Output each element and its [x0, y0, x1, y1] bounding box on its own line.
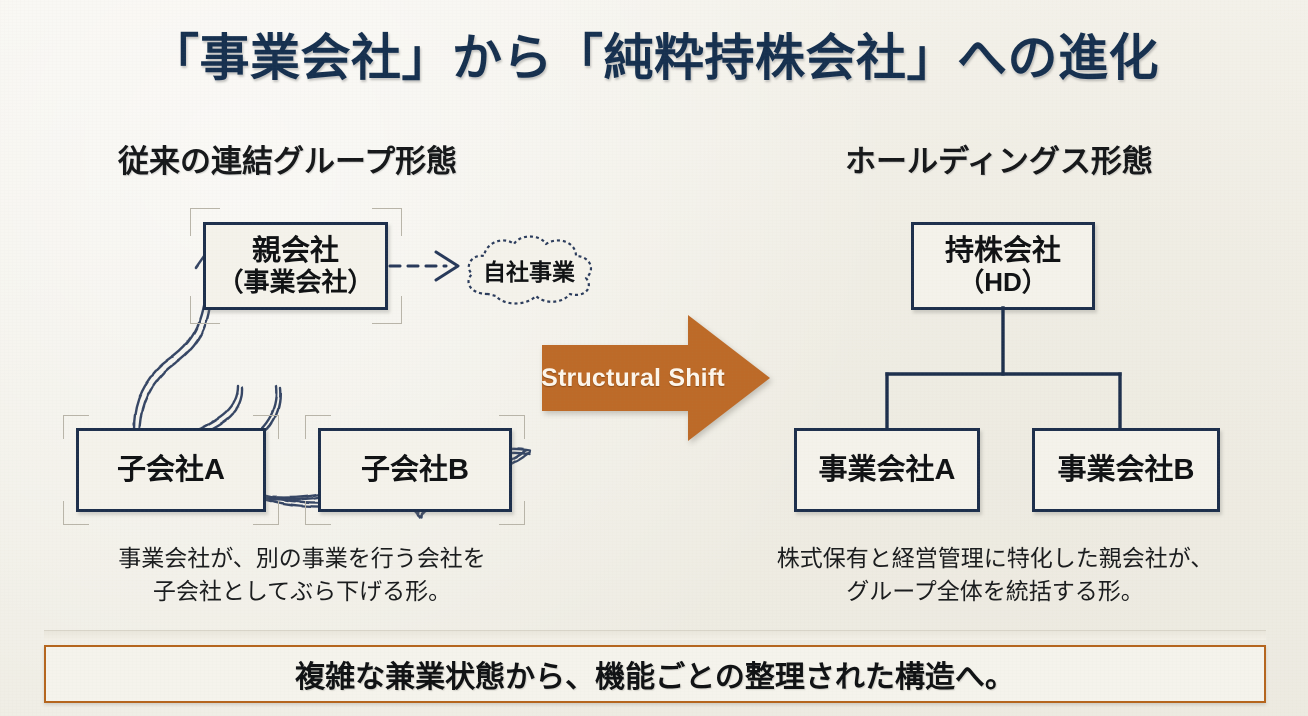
right-caption-line2: グループ全体を統括する形。: [740, 575, 1250, 608]
right-panel-heading: ホールディングス形態: [845, 136, 1153, 181]
own-business-cloud: 自社事業: [456, 232, 602, 308]
banner-top-strip: [44, 630, 1266, 640]
page-title: 「事業会社」から「純粋持株会社」への進化: [0, 18, 1308, 90]
holding-company-label-line2: （HD）: [958, 268, 1048, 297]
holding-company-label-line1: 持株会社: [945, 235, 1061, 267]
subsidiary-a-label: 子会社A: [117, 454, 225, 486]
subsidiary-b-box[interactable]: 子会社B: [318, 428, 512, 512]
parent-company-label-line2: （事業会社）: [217, 268, 373, 297]
own-business-label: 自社事業: [456, 232, 602, 308]
left-caption-line1: 事業会社が、別の事業を行う会社を: [56, 542, 548, 575]
holdings-tree-connectors: [770, 300, 1240, 440]
structural-shift-label: Structural Shift: [538, 313, 728, 443]
operating-company-a-label: 事業会社A: [819, 454, 956, 486]
parent-company-label-line1: 親会社: [252, 235, 339, 267]
subsidiary-a-box[interactable]: 子会社A: [76, 428, 266, 512]
operating-company-b-box[interactable]: 事業会社B: [1032, 428, 1220, 512]
subsidiary-b-label: 子会社B: [361, 454, 469, 486]
holding-company-box[interactable]: 持株会社 （HD）: [911, 222, 1095, 310]
operating-company-a-box[interactable]: 事業会社A: [794, 428, 980, 512]
summary-banner: 複雑な兼業状態から、機能ごとの整理された構造へ。: [44, 645, 1266, 703]
operating-company-b-label: 事業会社B: [1058, 454, 1195, 486]
left-panel-heading: 従来の連結グループ形態: [118, 136, 457, 181]
structural-shift-arrow: Structural Shift: [538, 313, 774, 443]
right-caption-line1: 株式保有と経営管理に特化した親会社が、: [740, 542, 1250, 575]
summary-banner-text: 複雑な兼業状態から、機能ごとの整理された構造へ。: [295, 652, 1015, 696]
slide-canvas: 「事業会社」から「純粋持株会社」への進化 従来の連結グループ形態 ホールディング…: [0, 0, 1308, 716]
parent-company-box[interactable]: 親会社 （事業会社）: [203, 222, 388, 310]
right-panel-caption: 株式保有と経営管理に特化した親会社が、 グループ全体を統括する形。: [740, 542, 1250, 607]
left-panel-caption: 事業会社が、別の事業を行う会社を 子会社としてぶら下げる形。: [56, 542, 548, 607]
left-caption-line2: 子会社としてぶら下げる形。: [56, 575, 548, 608]
